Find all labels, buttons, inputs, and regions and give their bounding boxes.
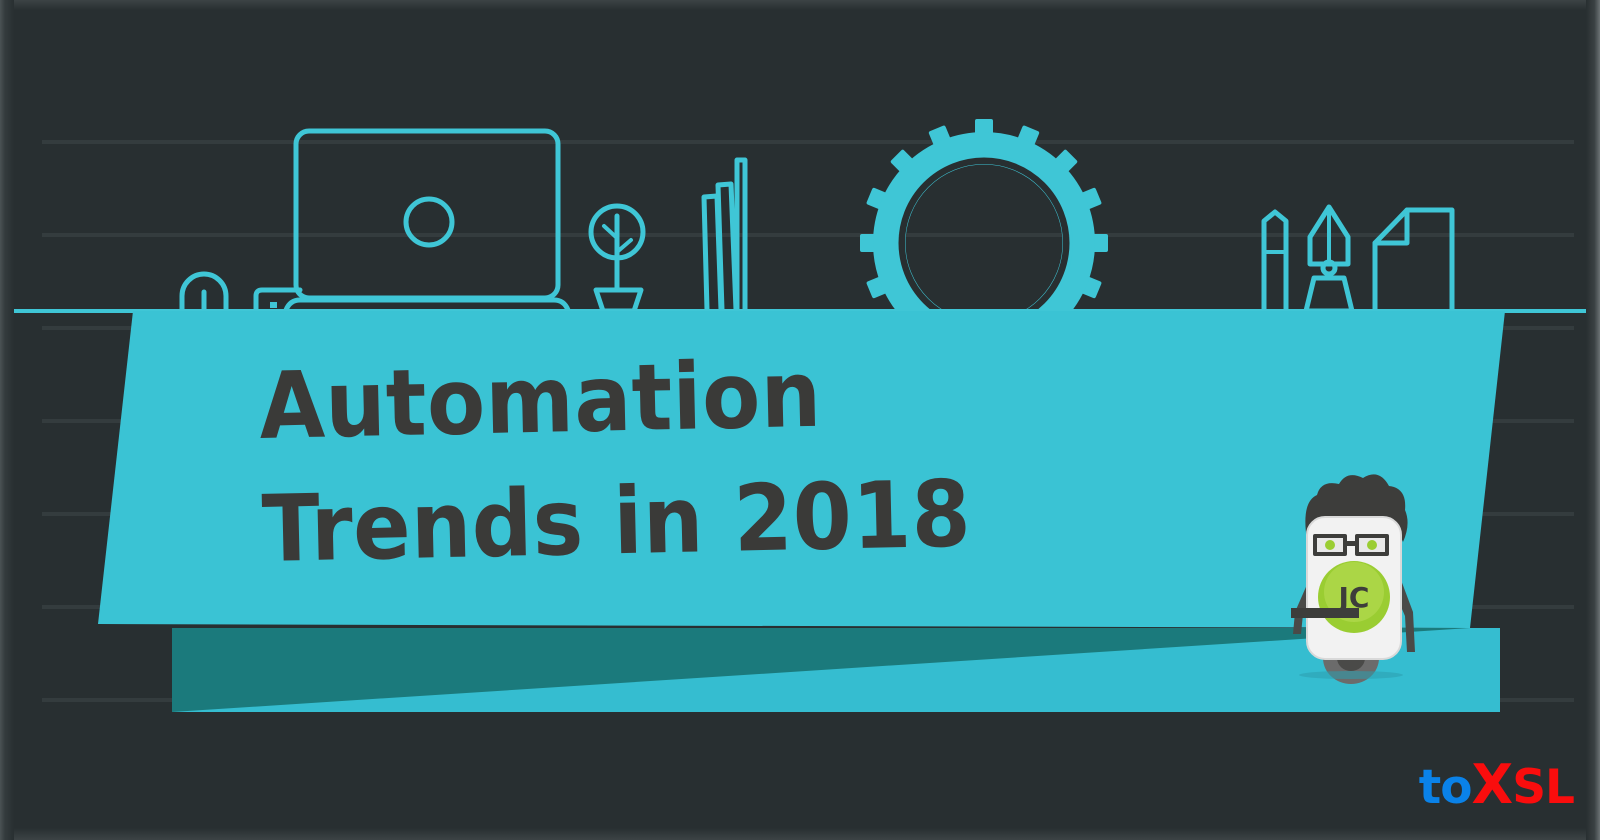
robot-mascot: JC <box>1255 462 1445 692</box>
brand-logo-accent: X <box>1472 753 1513 816</box>
headline-line-2: Trends in 2018 <box>261 452 1018 591</box>
robot-eye-right <box>1367 540 1377 550</box>
banner-root: Automation Trends in 2018 JC toXS <box>0 0 1600 840</box>
brand-logo-prefix: to <box>1419 760 1472 815</box>
robot-eye-left <box>1325 540 1335 550</box>
robot-shadow <box>1299 671 1403 679</box>
brand-logo[interactable]: toXSL <box>1419 758 1574 812</box>
headline-line-1: Automation <box>258 329 1015 468</box>
page-title: Automation Trends in 2018 <box>258 327 1083 591</box>
robot-glasses-bridge <box>1347 541 1355 546</box>
robot-arm-bar <box>1291 608 1359 618</box>
brand-logo-suffix: SL <box>1512 760 1574 815</box>
